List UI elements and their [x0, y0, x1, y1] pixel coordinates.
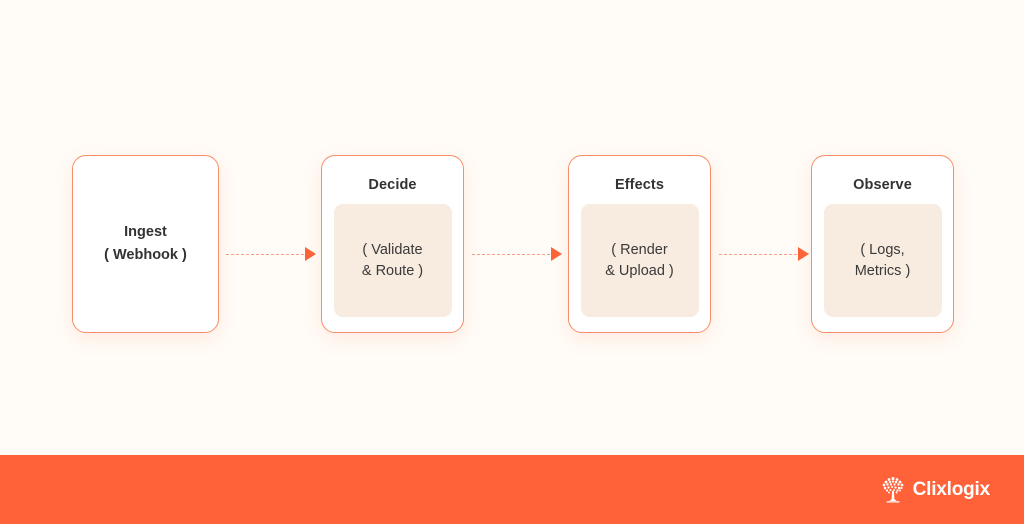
flow-node-observe-title: Observe	[853, 176, 912, 194]
flow-node-effects-title: Effects	[615, 176, 664, 194]
pipeline-flow: Ingest ( Webhook ) Decide ( Validate & R…	[0, 0, 1024, 455]
flow-node-decide-panel: ( Validate & Route )	[334, 204, 452, 317]
arrowhead-icon	[305, 247, 316, 261]
connector-line	[226, 254, 304, 255]
flow-node-ingest-subtitle: ( Webhook )	[104, 247, 187, 263]
flow-node-ingest[interactable]: Ingest ( Webhook )	[72, 155, 219, 333]
flow-node-effects-panel: ( Render & Upload )	[581, 204, 699, 317]
arrowhead-icon	[798, 247, 809, 261]
flow-node-observe[interactable]: Observe ( Logs, Metrics )	[811, 155, 954, 333]
connector-line	[719, 254, 797, 255]
flow-node-decide-subtitle: ( Validate & Route )	[356, 240, 429, 282]
footer-bar: Clixlogix	[0, 455, 1024, 524]
flow-connector-decide-to-effects	[472, 247, 562, 261]
arrowhead-icon	[551, 247, 562, 261]
flow-node-ingest-text: Ingest ( Webhook )	[104, 221, 187, 267]
flow-node-effects[interactable]: Effects ( Render & Upload )	[568, 155, 711, 333]
flow-node-ingest-title: Ingest	[124, 224, 167, 240]
flow-node-effects-subtitle: ( Render & Upload )	[599, 240, 680, 282]
flow-connector-effects-to-observe	[719, 247, 809, 261]
flow-node-decide[interactable]: Decide ( Validate & Route )	[321, 155, 464, 333]
brand-name: Clixlogix	[913, 479, 990, 501]
flow-node-observe-subtitle: ( Logs, Metrics )	[849, 240, 917, 282]
connector-line	[472, 254, 550, 255]
brand-logo[interactable]: Clixlogix	[880, 475, 990, 505]
flow-node-observe-panel: ( Logs, Metrics )	[824, 204, 942, 317]
flow-connector-ingest-to-decide	[226, 247, 316, 261]
flow-node-decide-title: Decide	[368, 176, 416, 194]
diagram-canvas: Ingest ( Webhook ) Decide ( Validate & R…	[0, 0, 1024, 524]
tree-icon	[880, 475, 906, 505]
